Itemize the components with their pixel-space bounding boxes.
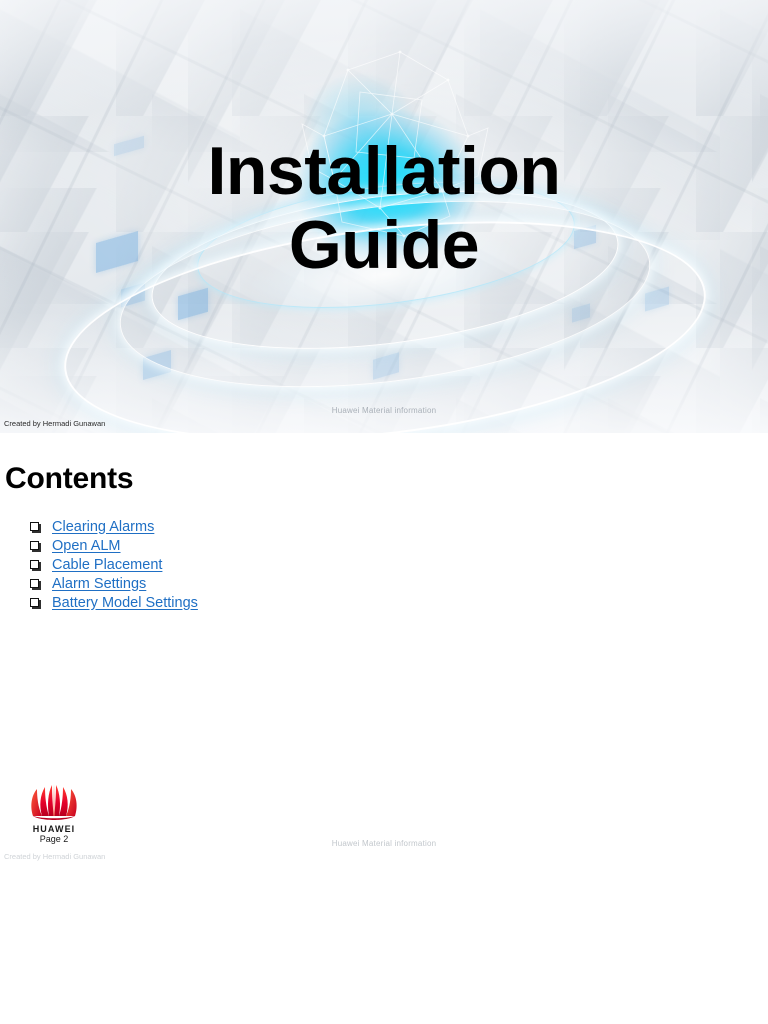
page-title: Contents (5, 462, 133, 496)
table-of-contents-list: Clearing Alarms Open ALM Cable Placement… (30, 517, 198, 612)
list-item[interactable]: Cable Placement (30, 555, 198, 574)
hollow-square-bullet-icon (30, 560, 39, 569)
toc-link-clearing-alarms[interactable]: Clearing Alarms (52, 519, 154, 535)
toc-link-battery-model-settings[interactable]: Battery Model Settings (52, 595, 198, 611)
hollow-square-bullet-icon (30, 541, 39, 550)
hollow-square-bullet-icon (30, 579, 39, 588)
contents-slide-credit: Created by Hermadi Gunawan (4, 852, 105, 861)
toc-link-cable-placement[interactable]: Cable Placement (52, 557, 162, 573)
title-slide: Installation Guide Huawei Material infor… (0, 0, 768, 433)
contents-slide-watermark: Huawei Material information (0, 839, 768, 848)
huawei-wordmark: HUAWEI (26, 824, 82, 834)
huawei-logo-icon (28, 783, 80, 823)
hollow-square-bullet-icon (30, 522, 39, 531)
title-slide-watermark: Huawei Material information (0, 406, 768, 415)
toc-link-alarm-settings[interactable]: Alarm Settings (52, 576, 146, 592)
hollow-square-bullet-icon (30, 598, 39, 607)
list-item[interactable]: Clearing Alarms (30, 517, 198, 536)
list-item[interactable]: Battery Model Settings (30, 593, 198, 612)
list-item[interactable]: Alarm Settings (30, 574, 198, 593)
slide-title: Installation Guide (0, 134, 768, 282)
contents-slide: Contents Clearing Alarms Open ALM Cable … (0, 433, 768, 1024)
list-item[interactable]: Open ALM (30, 536, 198, 555)
title-slide-credit: Created by Hermadi Gunawan (4, 419, 105, 428)
toc-link-open-alm[interactable]: Open ALM (52, 538, 121, 554)
huawei-branding: HUAWEI Page 2 (26, 783, 82, 844)
